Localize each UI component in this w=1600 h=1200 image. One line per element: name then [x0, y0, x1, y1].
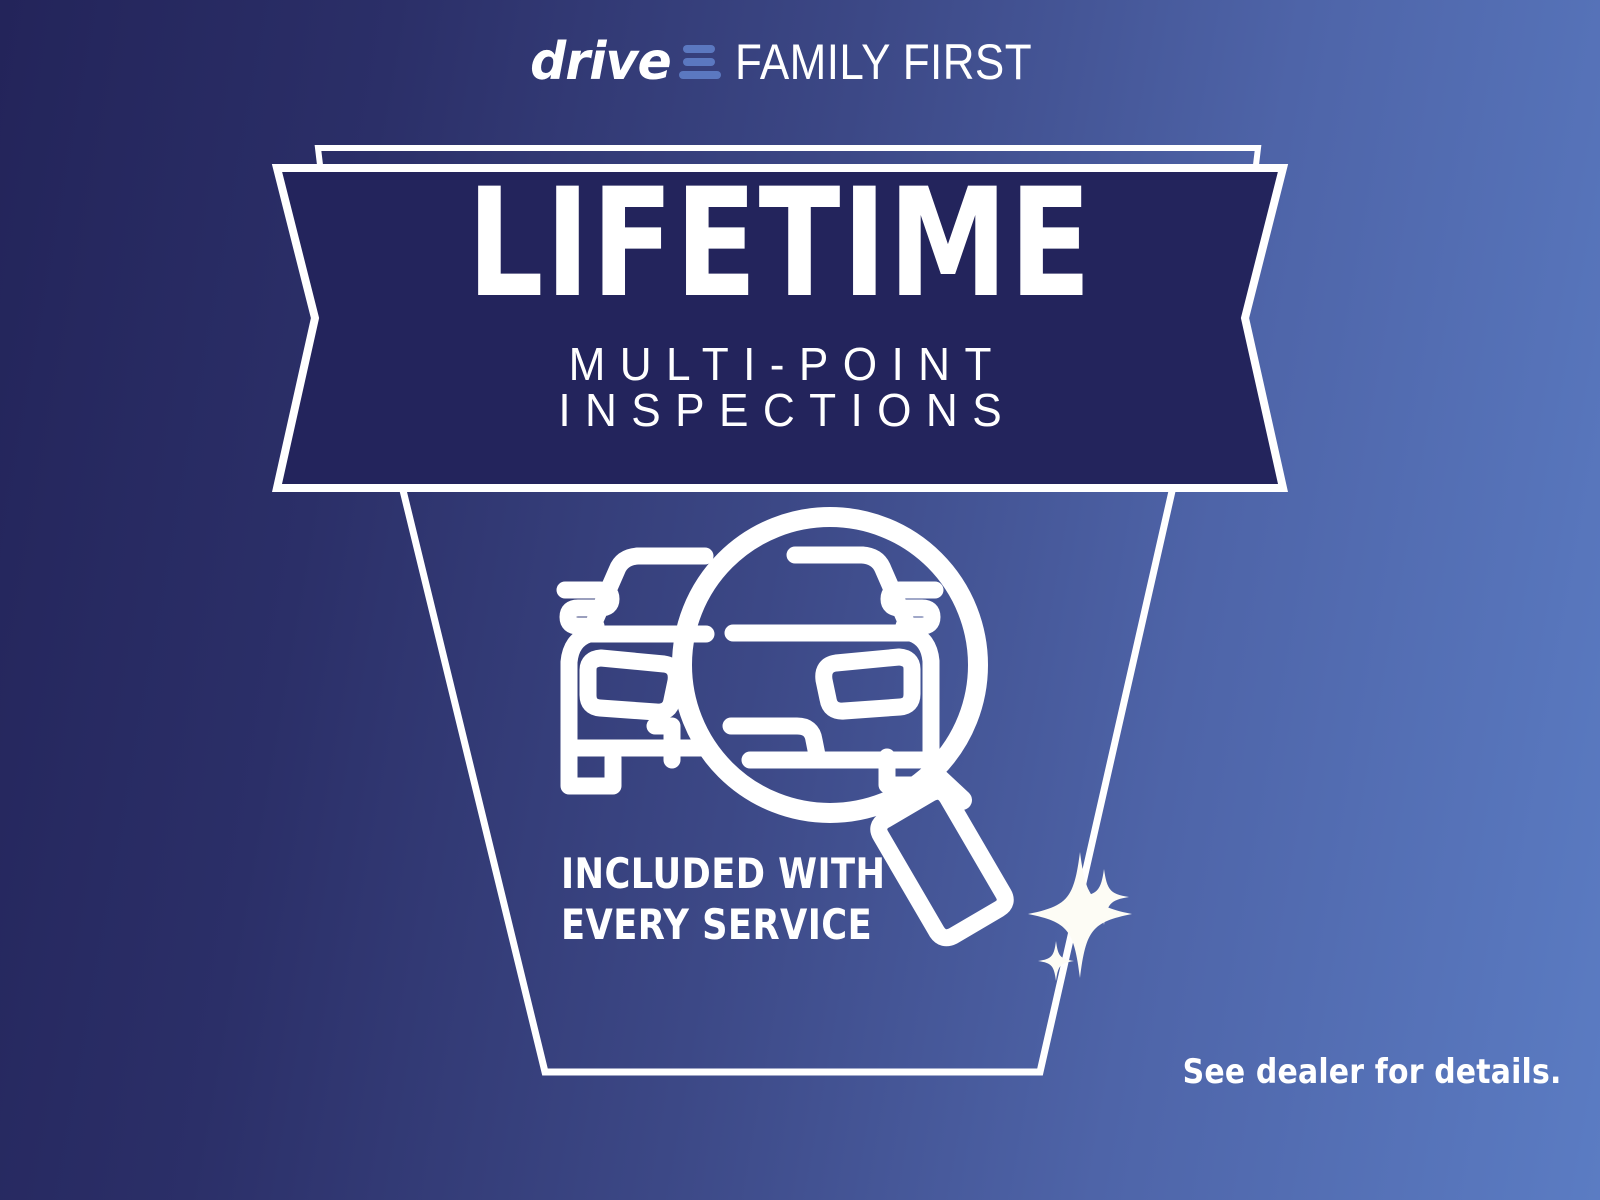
- ribbon-banner: [277, 168, 1283, 488]
- trapezoid-frame: [400, 478, 1175, 1072]
- promo-poster: drive FAMILY FIRST: [0, 0, 1600, 1200]
- poster-artwork: [0, 0, 1600, 1200]
- disclaimer-text: See dealer for details.: [1183, 1052, 1562, 1092]
- car-front-magnified-icon: [731, 555, 935, 785]
- sparkle-icon-large: [1028, 852, 1132, 978]
- sparkle-group: [1028, 852, 1132, 981]
- included-with-every-service-text: INCLUDED WITH EVERY SERVICE: [561, 848, 885, 950]
